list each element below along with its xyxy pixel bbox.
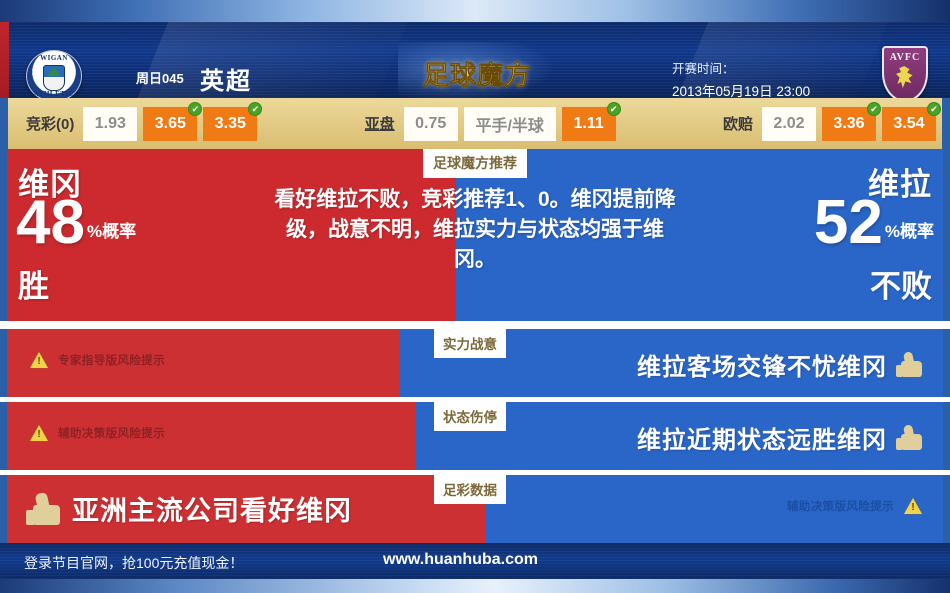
odds-cell[interactable]: 2.02 [762,107,816,141]
risk-notice-text: 专家指导版风险提示 [58,352,165,368]
insight-headline-text: 维拉近期状态远胜维冈 [637,420,887,455]
check-icon: ✔ [188,102,202,116]
odds-cell-value: 3.54 [893,115,924,133]
insight-row-tag: 状态伤停 [434,402,506,431]
row-left-edge [0,329,7,397]
bottom-glow-strip [0,579,950,593]
away-crest-text: AVFC [882,52,928,63]
odds-group-label: 亚盘 [365,113,395,134]
odds-cell-value: 3.65 [155,115,186,133]
odds-cell-value: 1.11 [574,115,604,133]
odds-bar: 竞彩(0) 1.93 3.65 ✔ 3.35 ✔ 亚盘 0.75 平手/半球 [0,98,950,149]
odds-cell-value: 3.35 [215,115,246,133]
insight-row-tag: 实力战意 [434,329,506,358]
warning-icon [30,352,48,368]
insight-row: 亚洲主流公司看好维冈 足彩数据 辅助决策版风险提示 [0,475,950,543]
row-right-edge [943,402,950,470]
league-name: 英超 [200,61,252,96]
risk-notice-text: 辅助决策版风险提示 [58,425,165,441]
brand-logo: 足球魔方 [418,55,536,91]
risk-notice: 辅助决策版风险提示 [787,498,922,514]
kickoff-time-value: 2013年05月19日 23:00 [672,80,810,98]
odds-group-jingcai: 竞彩(0) 1.93 3.65 ✔ 3.35 ✔ [8,107,263,141]
check-icon: ✔ [607,102,621,116]
risk-notice-text: 辅助决策版风险提示 [787,498,894,514]
odds-group-label: 竞彩(0) [26,113,74,134]
row-left-edge [0,402,7,470]
home-outcome-label: 胜 [18,261,49,306]
match-round-label: 周日045 [136,68,184,87]
odds-cell[interactable]: 3.54 ✔ [882,107,936,141]
risk-notice: 辅助决策版风险提示 [30,425,165,441]
insight-headline-text: 亚洲主流公司看好维冈 [72,489,352,528]
away-outcome-label: 不败 [870,261,932,306]
band-right-edge [943,149,950,321]
insight-headline: 亚洲主流公司看好维冈 [26,489,352,528]
odds-cell[interactable]: 3.65 ✔ [143,107,197,141]
odds-cell[interactable]: 3.35 ✔ [203,107,257,141]
odds-cell-value: 2.02 [773,115,804,133]
odds-right-edge [942,98,950,149]
band-left-edge [0,149,7,321]
check-icon: ✔ [248,102,262,116]
odds-cell-value: 1.93 [95,115,126,133]
odds-cell-value: 3.36 [833,115,864,133]
prediction-band: 维冈 48 %概率 胜 维拉 52 %概率 不败 足球魔方推荐 看好维拉不败，竞… [0,149,950,321]
insight-headline: 维拉客场交锋不忧维冈 [637,347,922,382]
home-crest-tree-icon [47,67,61,76]
away-probability-value: 52 [814,194,883,251]
odds-cell-value: 0.75 [415,115,446,133]
insight-row-tag: 足彩数据 [434,475,506,504]
risk-notice: 专家指导版风险提示 [30,352,165,368]
home-crest-top-text: WIGAN [27,54,81,62]
match-prediction-card: WIGAN ATHLETIC 周日045 英超 足球魔方 开赛时间： 2013年… [0,0,950,593]
footer-bar: 登录节目官网，抢100元充值现金！ www.huanhuba.com [0,543,950,579]
warning-icon [904,498,922,514]
kickoff-time-label: 开赛时间： [672,58,735,77]
odds-group-oupei: 欧赔 2.02 3.36 ✔ 3.54 ✔ [705,107,942,141]
row-right-edge [943,475,950,543]
thumbs-up-icon [896,425,922,450]
footer-promo-text: 登录节目官网，抢100元充值现金！ [24,553,243,573]
insight-headline-text: 维拉客场交锋不忧维冈 [637,347,887,382]
away-probability: 52 %概率 [814,194,934,251]
away-team-crest-icon: AVFC [882,46,928,98]
odds-cell[interactable]: 平手/半球 [464,107,556,141]
header-bar: WIGAN ATHLETIC 周日045 英超 足球魔方 开赛时间： 2013年… [0,22,950,98]
recommendation-tag: 足球魔方推荐 [423,149,527,178]
footer-website-link[interactable]: www.huanhuba.com [383,551,538,569]
recommendation-text: 看好维拉不败，竞彩推荐1、0。维冈提前降级，战意不明，维拉实力与状态均强于维冈。 [268,185,682,274]
odds-group-label: 欧赔 [723,113,753,134]
insight-headline: 维拉近期状态远胜维冈 [637,420,922,455]
brand-logo-text: 足球魔方 [423,55,531,92]
home-team-crest-icon: WIGAN ATHLETIC [26,50,82,98]
home-crest-bottom-text: ATHLETIC [27,90,81,98]
thumbs-up-icon [896,352,922,377]
insight-row: 辅助决策版风险提示 状态伤停 维拉近期状态远胜维冈 [0,402,950,470]
odds-cell[interactable]: 3.36 ✔ [822,107,876,141]
home-probability: 48 %概率 [16,194,136,251]
home-probability-suffix: %概率 [85,217,136,251]
warning-icon [30,425,48,441]
top-glow-strip [0,0,950,22]
odds-cell[interactable]: 0.75 [404,107,458,141]
header-red-accent [0,22,9,98]
insight-row: 专家指导版风险提示 实力战意 维拉客场交锋不忧维冈 [0,329,950,397]
odds-cell[interactable]: 1.93 [83,107,137,141]
check-icon: ✔ [867,102,881,116]
check-icon: ✔ [927,102,941,116]
odds-group-yapan: 亚盘 0.75 平手/半球 1.11 ✔ [347,107,622,141]
row-right-edge [943,329,950,397]
odds-left-edge [0,98,8,149]
odds-cell[interactable]: 1.11 ✔ [562,107,616,141]
thumbs-up-icon [26,493,60,525]
home-probability-value: 48 [16,194,85,251]
home-crest-shield [43,65,65,91]
row-left-edge [0,475,7,543]
away-probability-suffix: %概率 [883,217,934,251]
odds-cell-value: 平手/半球 [475,112,543,136]
